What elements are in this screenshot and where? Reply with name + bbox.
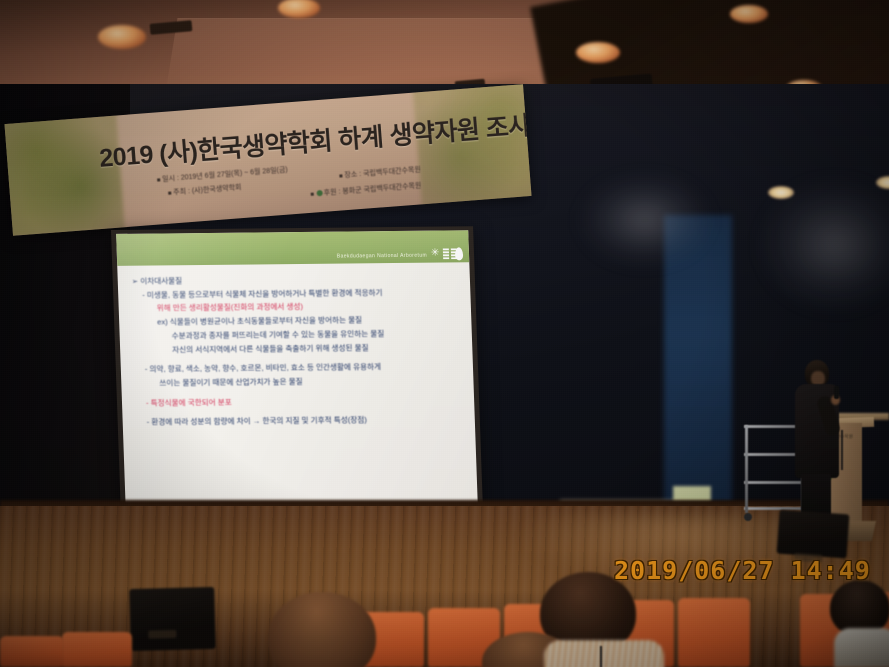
slide-line: ex) 식물들이 병원균이나 초식동물들로부터 자신을 방어하는 물질 [133, 315, 461, 327]
slide-line: - 환경에 따라 성분의 함량에 차이 → 한국의 지질 및 기후적 특성(장점… [137, 416, 465, 428]
auditorium-seat [678, 598, 750, 667]
auditorium-seat [62, 632, 132, 667]
slide-line: - 의약, 향료, 색소, 농약, 향수, 호르몬, 비타민, 효소 등 인간생… [135, 363, 463, 375]
slide-line: 수분과정과 종자를 퍼뜨리는데 기여할 수 있는 동물을 유인하는 물질 [134, 329, 462, 341]
banner-bullet-icon [339, 174, 342, 177]
camera-timestamp: 2019/06/27 14:49 [614, 556, 871, 585]
microphone-icon [834, 386, 839, 399]
sponsor-logo-icon [316, 190, 322, 196]
audience-shoulders [834, 628, 889, 667]
banner-host-text: 주최 : (사)한국생약학회 [173, 184, 242, 196]
auditorium-seat [0, 636, 64, 667]
slide-body: ➢ 이차대사물질- 미생물, 동물 등으로부터 식물체 자신을 방어하거나 특별… [117, 262, 478, 511]
logo-bar-icon [443, 248, 449, 259]
banner-sponsor-text: 후원 : 봉화군 국립백두대간수목원 [323, 182, 421, 196]
ceiling-light [730, 5, 768, 23]
wall-spotlight [768, 186, 794, 199]
slide-line: ➢ 이차대사물질 [132, 274, 460, 286]
banner-bullet-icon [157, 178, 160, 181]
banner-host: 주최 : (사)한국생약학회 [168, 182, 242, 198]
slide-line: 위해 만든 생리활성물질(진화의 과정에서 생성) [133, 302, 461, 314]
arboretum-logo-icon: ✳ [431, 246, 463, 260]
slide-line: 자신의 서식지역에서 다른 식물들을 축출하기 위해 생성된 물질 [134, 343, 462, 355]
projection-screen: Baekdudaegan National Arboretum ✳ ➢ 이차대사… [111, 226, 483, 516]
banner-bullet-icon [311, 192, 314, 195]
banner-sponsor: 후원 : 봉화군 국립백두대간수목원 [310, 180, 421, 198]
banner-bullet-icon [168, 191, 171, 194]
slide-header-band: Baekdudaegan National Arboretum ✳ [116, 230, 469, 266]
wall-light-wash [580, 175, 710, 265]
floor-monitor-speaker [777, 510, 850, 559]
slide-surface: Baekdudaegan National Arboretum ✳ ➢ 이차대사… [116, 230, 478, 511]
slide-line: - 미생물, 동물 등으로부터 식물체 자신을 방어하거나 특별한 환경에 적응… [132, 288, 460, 300]
cart-leg [745, 425, 748, 513]
slide-line: 쓰이는 물질이기 때문에 산업가치가 높은 물질 [135, 376, 463, 388]
slide-line: - 특정식물에 국한되어 분포 [136, 396, 464, 408]
audience-lanyard [600, 646, 602, 667]
ceiling-light [98, 25, 146, 49]
cart-wheel [744, 513, 752, 521]
banner-date-text: 일시 : 2019년 6월 27일(목) ~ 6월 28일(금) [162, 167, 288, 184]
photograph-canvas: 2019 (사)한국생약학회 하계 생약자원 조사대회 일시 : 2019년 6… [0, 0, 889, 667]
podium-mic-stand [841, 430, 843, 470]
banner-place-text: 장소 : 국립백두대간수목원 [344, 166, 421, 179]
ceiling-light [576, 42, 620, 63]
slide-brand-text: Baekdudaegan National Arboretum [337, 253, 427, 260]
banner-place: 장소 : 국립백두대간수목원 [339, 164, 421, 180]
audience-shoulders [544, 640, 664, 667]
leaf-icon [455, 247, 463, 260]
floor-monitor-speaker [129, 587, 216, 651]
star-icon: ✳ [431, 249, 440, 259]
